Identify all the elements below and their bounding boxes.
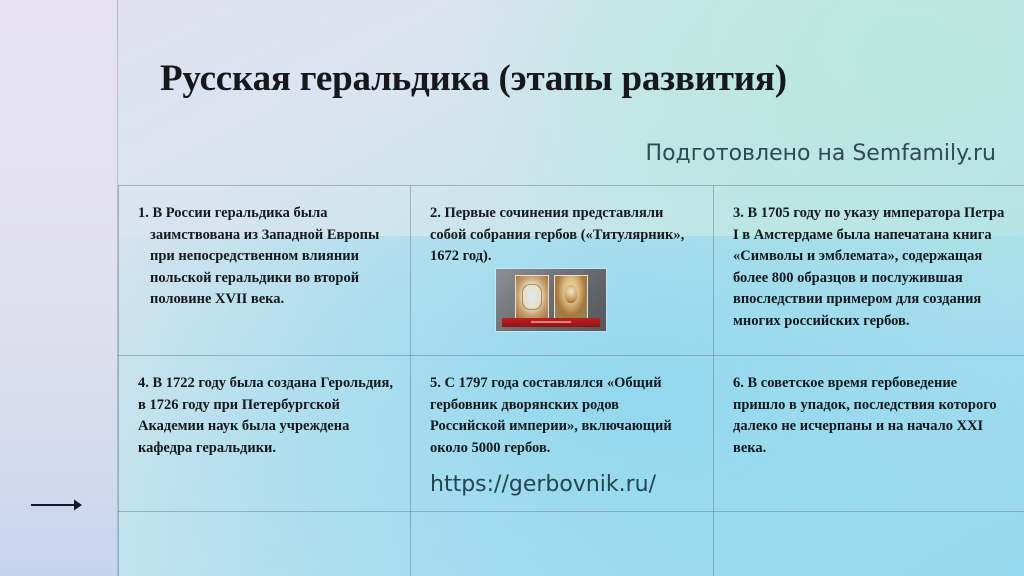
- table-cell-8: [410, 511, 713, 576]
- right-arrow-icon: [30, 497, 82, 513]
- table-cell-7: [118, 511, 410, 576]
- gerbovnik-link[interactable]: https://gerbovnik.ru/: [430, 471, 656, 499]
- stages-table: 1. В России геральдика была заимствована…: [118, 185, 1024, 576]
- table-cell-5: 5. С 1797 года составлялся «Общий гербов…: [410, 355, 713, 511]
- slide-canvas: Русская геральдика (этапы развития) Подг…: [0, 0, 1024, 576]
- table-cell-4: 4. В 1722 году была создана Герольдия, в…: [118, 355, 410, 511]
- cell-6-text: 6. В советское время гербоведение пришло…: [733, 373, 1008, 459]
- page-title: Русская геральдика (этапы развития): [160, 56, 1000, 102]
- cell-2-text: 2. Первые сочинения представляли собой с…: [430, 203, 697, 268]
- cell-4-text: 4. В 1722 году была создана Герольдия, в…: [138, 373, 394, 459]
- left-sidebar-strip: [0, 0, 117, 576]
- table-cell-1: 1. В России геральдика была заимствована…: [118, 185, 410, 355]
- table-cell-6: 6. В советское время гербоведение пришло…: [713, 355, 1024, 511]
- cell-5-text: 5. С 1797 года составлялся «Общий гербов…: [430, 373, 697, 459]
- table-cell-9: [713, 511, 1024, 576]
- titulyarnik-manuscript-image: [496, 269, 606, 331]
- manuscript-page-left: [515, 275, 549, 319]
- table-cell-2: 2. Первые сочинения представляли собой с…: [410, 185, 713, 355]
- manuscript-red-band: [502, 318, 600, 327]
- credit-subtitle: Подготовлено на Semfamily.ru: [646, 140, 996, 168]
- manuscript-page-right: [554, 275, 588, 319]
- cell-3-text: 3. В 1705 году по указу императора Петра…: [733, 203, 1008, 332]
- cell-1-text: 1. В России геральдика была заимствована…: [138, 203, 394, 311]
- table-cell-3: 3. В 1705 году по указу императора Петра…: [713, 185, 1024, 355]
